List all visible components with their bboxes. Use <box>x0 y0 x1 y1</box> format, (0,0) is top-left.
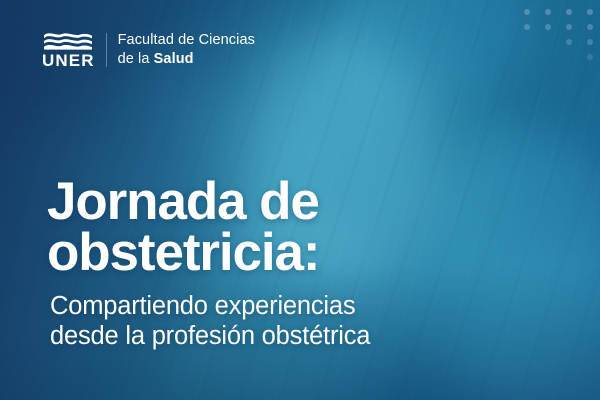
uner-waves-icon <box>43 31 93 50</box>
faculty-name-line1: Facultad de Ciencias <box>118 31 255 50</box>
event-banner: UNER Facultad de Ciencias de la Salud Jo… <box>0 0 600 400</box>
headline-line2: obstetricia: <box>47 223 319 282</box>
faculty-name-line2: de la Salud <box>118 50 255 69</box>
logo-divider <box>106 33 107 67</box>
page-subtitle: Compartiendo experiencias desde la profe… <box>50 292 487 352</box>
subhead-line2: desde la profesión obstétrica <box>50 322 370 350</box>
banner-copy: Jornada de obstetricia: Compartiendo exp… <box>47 176 487 351</box>
uner-logo-mark: UNER <box>42 31 95 69</box>
uner-logo-lockup[interactable]: UNER Facultad de Ciencias de la Salud <box>42 31 255 69</box>
faculty-name-line2-strong: Salud <box>154 51 194 67</box>
uner-wordmark: UNER <box>42 52 95 69</box>
faculty-name-line2-prefix: de la <box>118 51 154 67</box>
page-title: Jornada de obstetricia: <box>47 176 487 279</box>
faculty-name: Facultad de Ciencias de la Salud <box>118 31 255 69</box>
subhead-line1: Compartiendo experiencias <box>50 292 355 320</box>
